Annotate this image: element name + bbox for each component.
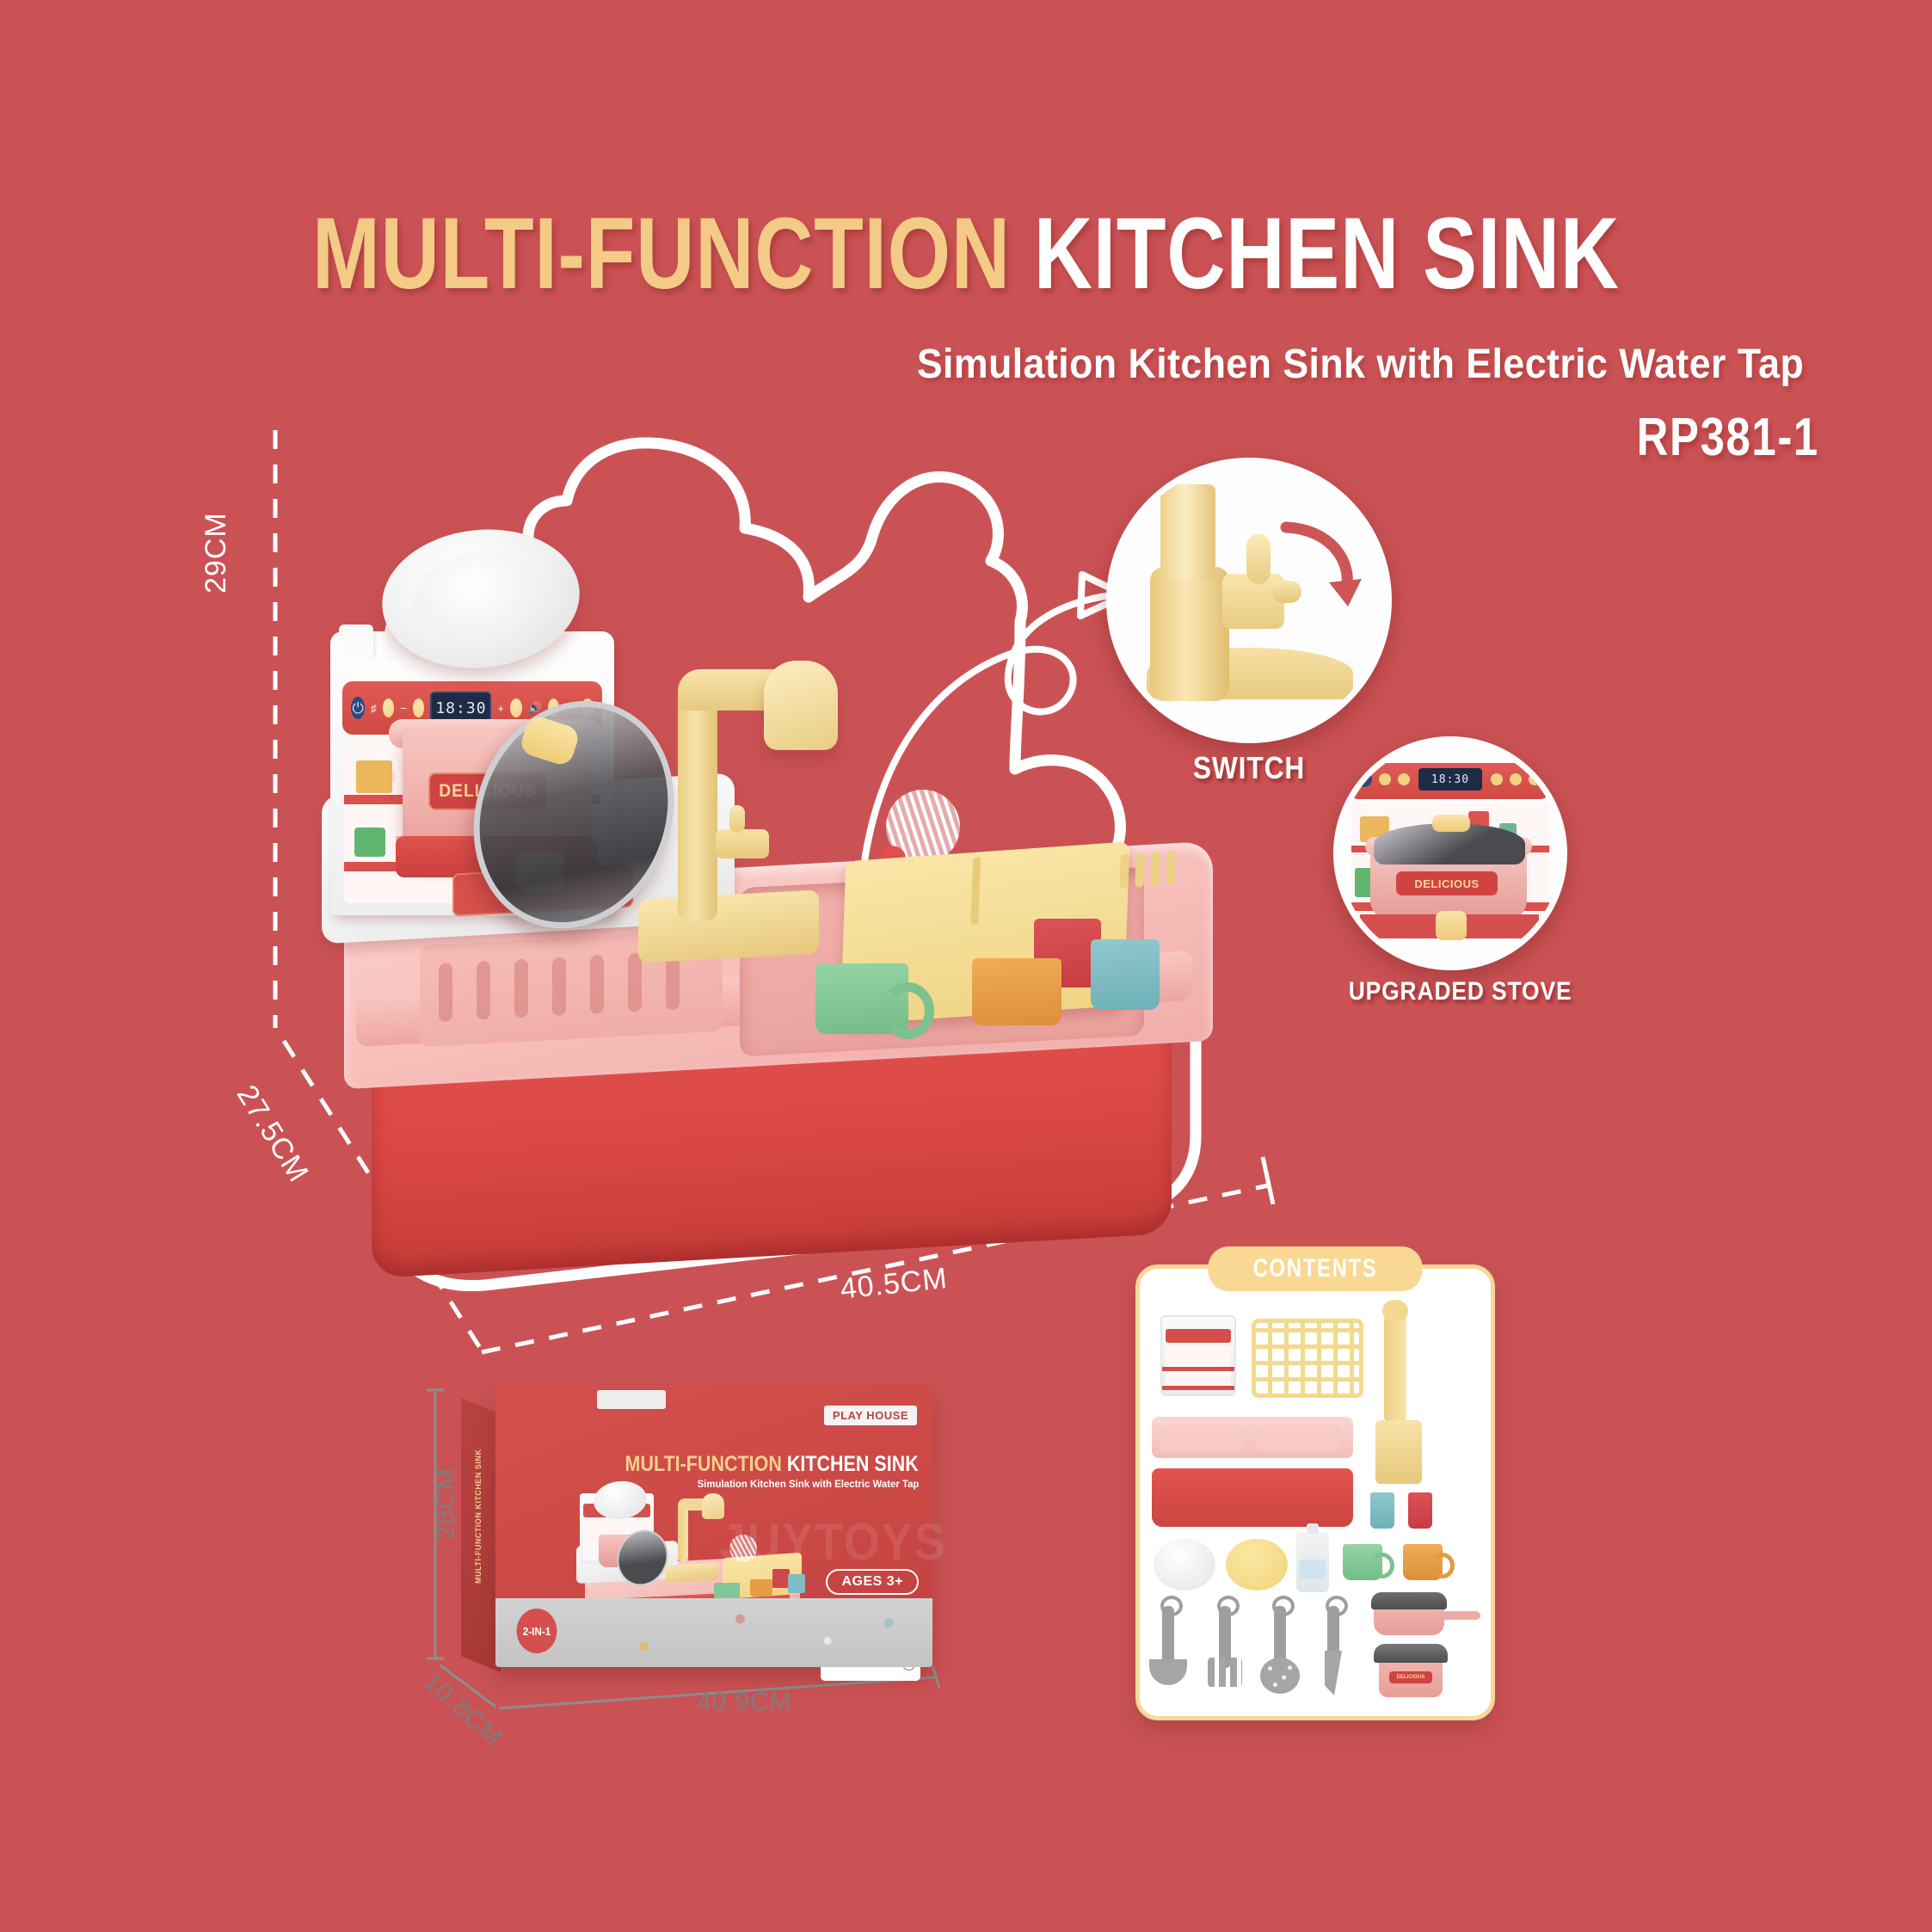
contents-item-stove-backboard [1160,1315,1236,1396]
contents-item-spatula [1219,1606,1231,1668]
package-side-text: MULTI-FUNCTION KITCHEN SINK [474,1394,483,1584]
contents-title: CONTENTS [1253,1254,1378,1283]
stove-closeup-pot-label: DELICIOUS [1396,871,1498,895]
contents-item-cup-blue [1370,1492,1394,1529]
callout-stove-label: UPGRADED STOVE [1349,977,1572,1006]
rotate-arrow-icon [1276,517,1370,612]
cup-orange [972,958,1061,1025]
contents-title-badge: CONTENTS [1209,1246,1423,1291]
contents-item-detergent-bottle [1296,1532,1329,1592]
contents-item-plate-yellow [1226,1539,1288,1591]
package-title: MULTI-FUNCTION KITCHEN SINK [625,1452,919,1477]
package-width-label: 40.9CM [697,1688,792,1717]
package-title-part1: MULTI-FUNCTION [625,1452,782,1476]
package-title-part2: KITCHEN SINK [787,1452,919,1476]
contents-item-skimmer [1274,1606,1286,1668]
power-icon[interactable]: ⏻ [351,697,365,719]
contents-item-divided-tray [1152,1417,1353,1458]
badge-2-in-1: 2-IN-1 [517,1609,557,1653]
package-box-image: MULTI-FUNCTION KITCHEN SINK PLAY HOUSE M… [447,1375,955,1719]
callout-upgraded-stove: 18:30 DELICIOUS UPGRADED STOVE [1333,736,1587,1006]
package-height-label: 28CM [432,1467,461,1540]
upgraded-stove-closeup-image: 18:30 DELICIOUS [1333,736,1567,970]
contents-item-mug-green [1343,1544,1382,1580]
contents-pot-label: DELICIOUS [1389,1671,1432,1683]
contents-item-dish-drying-rack [1252,1319,1363,1398]
faucet-head [764,661,838,750]
control-knob-3[interactable] [510,698,522,717]
switch-closeup-image [1106,458,1392,743]
stove-closeup-display: 18:30 [1418,768,1482,791]
contents-card: CONTENTS DELICIOUS [1135,1264,1495,1720]
contents-item-frying-pan [1374,1604,1444,1635]
dimension-height-label: 29CM [200,512,233,594]
poster-canvas: MULTI-FUNCTION KITCHEN SINK Simulation K… [0,0,1932,1932]
contents-item-ladle [1162,1606,1174,1668]
package-bottom-band [495,1598,932,1667]
faucet-base [638,889,819,963]
contents-item-knife [1327,1606,1339,1658]
brand-logo: PLAY HOUSE [824,1406,917,1425]
contents-item-cup-red [1408,1492,1432,1529]
contents-item-water-basin [1152,1468,1353,1527]
control-knob-2[interactable] [413,698,425,717]
package-hang-tab [597,1390,666,1409]
shower-icon: ♯ [371,702,377,715]
ages-badge: AGES 3+ [826,1569,919,1595]
contents-item-mug-orange [1403,1544,1443,1580]
contents-item-faucet-base [1375,1420,1422,1484]
faucet-switch-lever[interactable] [716,829,769,858]
control-knob-1[interactable] [383,698,395,717]
minus-icon: − [400,702,407,715]
contents-item-plate-white [1154,1539,1215,1591]
cup-green [815,963,908,1034]
cup-blue [1091,939,1160,1010]
contents-item-electric-faucet [1384,1314,1406,1424]
contents-item-cooking-pot: DELICIOUS [1379,1658,1443,1697]
plus-icon: + [497,702,504,715]
faucet-column [678,695,717,920]
